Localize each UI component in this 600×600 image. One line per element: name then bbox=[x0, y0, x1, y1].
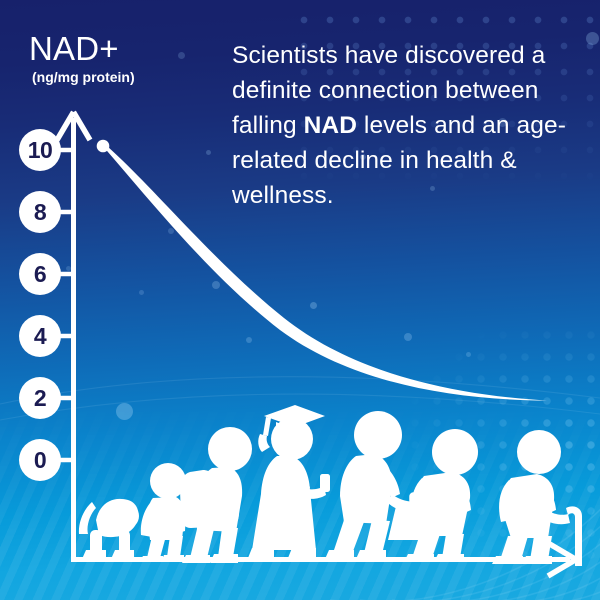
figure-toddler bbox=[139, 463, 186, 562]
nad-decline-curve bbox=[101, 144, 548, 401]
y-tick-label-10: 10 bbox=[19, 129, 61, 171]
figure-graduate-with-phone bbox=[248, 405, 330, 558]
curve-start-cap bbox=[97, 140, 110, 153]
nad-decline-infographic: NAD+ (ng/mg protein) Scientists have dis… bbox=[0, 0, 600, 600]
figure-elderly-person-with-cane bbox=[492, 430, 582, 566]
figure-schoolchild-with-backpack bbox=[180, 427, 252, 563]
y-tick-label-4: 4 bbox=[19, 315, 61, 357]
figure-crawling-baby bbox=[79, 499, 139, 559]
y-tick-label-8: 8 bbox=[19, 191, 61, 233]
y-tick-label-6: 6 bbox=[19, 253, 61, 295]
figure-stooping-middle-aged-man bbox=[404, 429, 478, 562]
life-stage-figures bbox=[0, 390, 600, 570]
